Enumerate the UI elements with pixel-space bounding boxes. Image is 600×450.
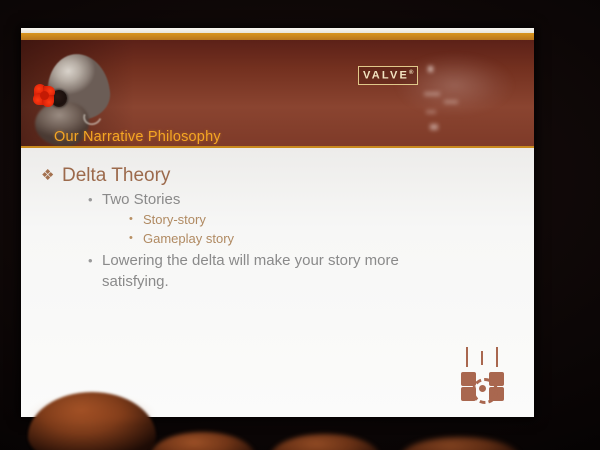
- round-bullet-icon: •: [129, 229, 133, 248]
- bullet-two-stories: • Two Stories • Story-story • Gameplay s…: [84, 189, 471, 248]
- bullet-list-level-2: • Two Stories • Story-story • Gameplay s…: [84, 189, 471, 292]
- cube-tick-right: [496, 347, 498, 367]
- round-bullet-icon: •: [88, 250, 93, 271]
- photograph-of-projected-slide: VALVE® Our Narrative Philosophy ❖ Delta …: [0, 0, 600, 450]
- bullet-gameplay-story: • Gameplay story: [126, 229, 471, 248]
- companion-cube-logo: [460, 347, 506, 401]
- slide-header-band: VALVE® Our Narrative Philosophy: [21, 40, 534, 148]
- bullet-story-story-label: Story-story: [143, 212, 206, 227]
- audience-head: [150, 432, 255, 450]
- projection-screen: VALVE® Our Narrative Philosophy ❖ Delta …: [21, 28, 534, 417]
- cube-tick-middle: [481, 351, 483, 365]
- bullet-list-level-3: • Story-story • Gameplay story: [126, 210, 471, 248]
- diamond-bullet-icon: ❖: [41, 164, 54, 188]
- valve-wordmark: VALVE: [363, 70, 409, 82]
- round-bullet-icon: •: [88, 189, 93, 210]
- cube-center-dot: [479, 385, 486, 392]
- cube-center-ring: [472, 378, 498, 404]
- bullet-lowering-delta-label: Lowering the delta will make your story …: [102, 252, 399, 290]
- valve-logo: VALVE®: [358, 66, 418, 85]
- audience-head: [270, 434, 380, 450]
- header-light-glare: [388, 48, 516, 140]
- bullet-delta-theory: ❖ Delta Theory • Two Stories • Story-sto…: [41, 164, 471, 292]
- bullet-two-stories-label: Two Stories: [102, 191, 180, 208]
- round-bullet-icon: •: [129, 210, 133, 229]
- audience-head-foreground: [28, 392, 156, 450]
- valve-registered-mark: ®: [409, 70, 413, 76]
- bullet-gameplay-story-label: Gameplay story: [143, 231, 234, 246]
- slide-body: ❖ Delta Theory • Two Stories • Story-sto…: [21, 148, 534, 417]
- audience-head: [400, 437, 520, 450]
- slide-top-gold-bar: [21, 33, 534, 40]
- bullet-lowering-delta: • Lowering the delta will make your stor…: [84, 250, 432, 292]
- cube-tick-left: [466, 347, 468, 367]
- bullet-list-level-1: ❖ Delta Theory • Two Stories • Story-sto…: [41, 164, 471, 294]
- slide-title: Our Narrative Philosophy: [54, 129, 221, 145]
- red-flower-icon: [33, 84, 57, 108]
- bullet-story-story: • Story-story: [126, 210, 471, 229]
- bullet-delta-theory-label: Delta Theory: [62, 165, 170, 186]
